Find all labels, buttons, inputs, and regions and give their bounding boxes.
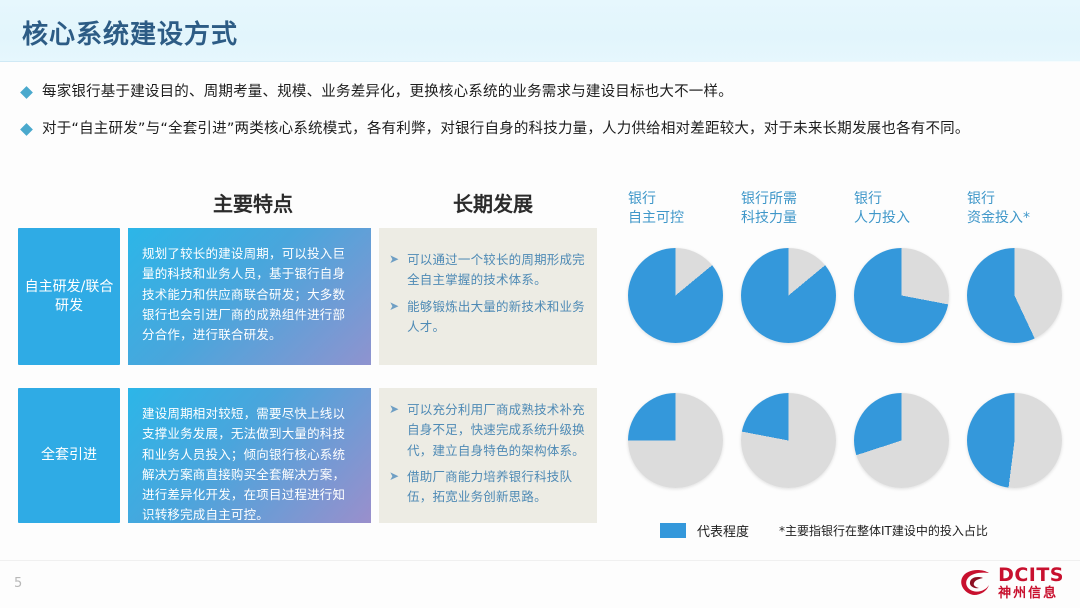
diamond-bullet-icon: [20, 123, 33, 136]
feature-description-cell: 建设周期相对较短，需要尽快上线以支撑业务发展，无法做到大量的科技和业务人员投入；…: [128, 388, 371, 523]
pie-header-0: 银行 自主可控: [628, 190, 741, 228]
longterm-text: 可以充分利用厂商成熟技术补充自身不足，快速完成系统升级换代，建立自身特色的架构体…: [407, 400, 585, 461]
category-label-cell: 自主研发/联合研发: [18, 228, 120, 365]
list-item: ➤ 可以通过一个较长的周期形成完全自主掌握的技术体系。: [389, 250, 585, 291]
footer-divider: [0, 560, 1080, 561]
pie-slot: [628, 248, 741, 343]
pie-header-line1: 银行: [967, 190, 1080, 209]
pie-header-line1: 银行所需: [741, 190, 854, 209]
longterm-text: 能够锻炼出大量的新技术和业务人才。: [407, 297, 585, 338]
brand-logo: DCITS 神州信息: [959, 566, 1064, 600]
pie-header-line2: 人力投入: [854, 209, 967, 228]
pie-slot: [628, 393, 741, 488]
pie-header-line2: 资金投入*: [967, 209, 1080, 228]
logo-cn: 神州信息: [998, 587, 1064, 600]
bullet-text: 每家银行基于建设目的、周期考量、规模、业务差异化，更换核心系统的业务需求与建设目…: [42, 82, 733, 103]
header-divider: [0, 61, 1080, 62]
pie-slot: [854, 248, 967, 343]
arrow-right-icon: ➤: [389, 297, 399, 316]
arrow-right-icon: ➤: [389, 250, 399, 269]
chart-legend: 代表程度 *主要指银行在整体IT建设中的投入占比: [660, 521, 988, 540]
arrow-right-icon: ➤: [389, 467, 399, 486]
pie-header-line1: 银行: [628, 190, 741, 209]
pie-slot: [854, 393, 967, 488]
pie-header-1: 银行所需 科技力量: [741, 190, 854, 228]
pie-header-line2: 自主可控: [628, 209, 741, 228]
pie-header-2: 银行 人力投入: [854, 190, 967, 228]
page-title: 核心系统建设方式: [22, 14, 238, 51]
table-row: 自主研发/联合研发 规划了较长的建设周期，可以投入巨量的科技和业务人员，基于银行…: [18, 228, 597, 365]
legend-swatch-icon: [660, 523, 686, 538]
table-row: 全套引进 建设周期相对较短，需要尽快上线以支撑业务发展，无法做到大量的科技和业务…: [18, 388, 597, 523]
pie-chart-row-2: [628, 393, 1080, 488]
longterm-text: 可以通过一个较长的周期形成完全自主掌握的技术体系。: [407, 250, 585, 291]
pie-chart-row-1: [628, 248, 1080, 343]
legend-label: 代表程度: [697, 521, 749, 540]
list-item: ➤ 能够锻炼出大量的新技术和业务人才。: [389, 297, 585, 338]
legend-footnote: *主要指银行在整体IT建设中的投入占比: [779, 522, 988, 539]
logo-text: DCITS 神州信息: [998, 566, 1064, 600]
pie-header-line1: 银行: [854, 190, 967, 209]
bullet-text: 对于“自主研发”与“全套引进”两类核心系统模式，各有利弊，对银行自身的科技力量，…: [42, 119, 970, 140]
column-header-features: 主要特点: [213, 188, 293, 217]
pie-chart-1-1: [741, 393, 836, 488]
pie-slot: [741, 393, 854, 488]
pie-header-3: 银行 资金投入*: [967, 190, 1080, 228]
category-label-cell: 全套引进: [18, 388, 120, 523]
feature-description-cell: 规划了较长的建设周期，可以投入巨量的科技和业务人员，基于银行自身技术能力和供应商…: [128, 228, 371, 365]
longterm-cell: ➤ 可以充分利用厂商成熟技术补充自身不足，快速完成系统升级换代，建立自身特色的架…: [379, 388, 597, 523]
pie-chart-1-0: [628, 393, 723, 488]
pie-header-line2: 科技力量: [741, 209, 854, 228]
pie-chart-0-3: [967, 248, 1062, 343]
pie-slot: [967, 248, 1080, 343]
longterm-text: 借助厂商能力培养银行科技队伍，拓宽业务创新思路。: [407, 467, 585, 508]
list-item: 每家银行基于建设目的、周期考量、规模、业务差异化，更换核心系统的业务需求与建设目…: [18, 82, 1068, 103]
pie-chart-headers: 银行 自主可控 银行所需 科技力量 银行 人力投入 银行 资金投入*: [628, 190, 1080, 228]
diamond-bullet-icon: [20, 86, 33, 99]
column-header-longterm: 长期发展: [453, 188, 533, 217]
longterm-cell: ➤ 可以通过一个较长的周期形成完全自主掌握的技术体系。 ➤ 能够锻炼出大量的新技…: [379, 228, 597, 365]
pie-chart-0-0: [628, 248, 723, 343]
list-item: ➤ 可以充分利用厂商成熟技术补充自身不足，快速完成系统升级换代，建立自身特色的架…: [389, 400, 585, 461]
logo-en: DCITS: [998, 566, 1064, 585]
slide: 核心系统建设方式 每家银行基于建设目的、周期考量、规模、业务差异化，更换核心系统…: [0, 0, 1080, 608]
pie-chart-1-3: [967, 393, 1062, 488]
list-item: ➤ 借助厂商能力培养银行科技队伍，拓宽业务创新思路。: [389, 467, 585, 508]
list-item: 对于“自主研发”与“全套引进”两类核心系统模式，各有利弊，对银行自身的科技力量，…: [18, 119, 1068, 140]
arrow-right-icon: ➤: [389, 400, 399, 419]
pie-slot: [741, 248, 854, 343]
pie-chart-0-1: [741, 248, 836, 343]
dcits-swirl-icon: [959, 567, 993, 599]
bullet-list: 每家银行基于建设目的、周期考量、规模、业务差异化，更换核心系统的业务需求与建设目…: [18, 82, 1068, 156]
pie-chart-0-2: [854, 248, 949, 343]
pie-slot: [967, 393, 1080, 488]
pie-chart-1-2: [854, 393, 949, 488]
page-number: 5: [14, 576, 22, 591]
